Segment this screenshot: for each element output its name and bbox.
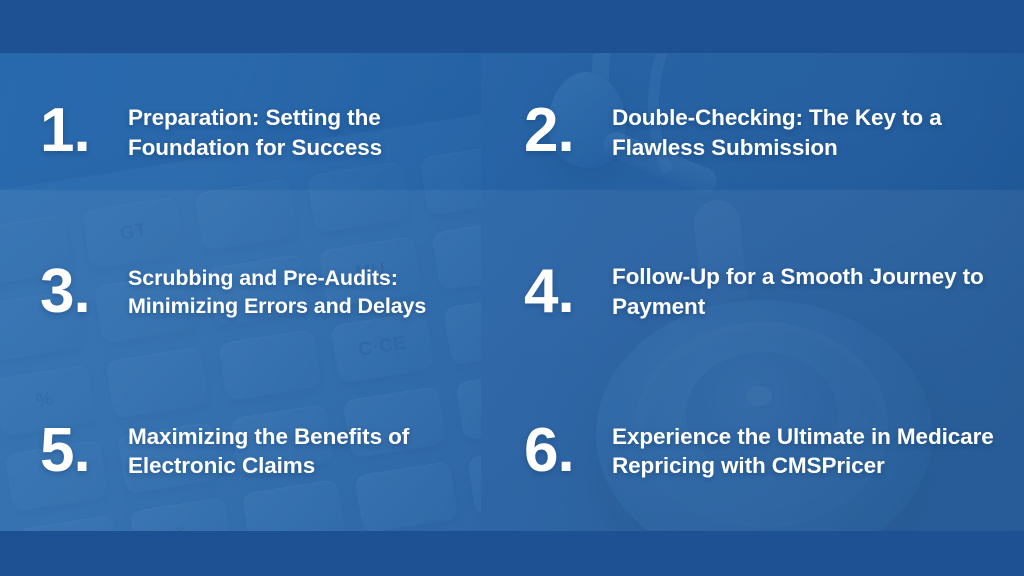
step-number-2: 2. (524, 102, 602, 160)
step-item-1: 1. Preparation: Setting the Foundation f… (0, 53, 512, 212)
bottom-bar (0, 531, 1024, 576)
step-item-2: 2. Double-Checking: The Key to a Flawles… (512, 53, 1024, 212)
step-number-5: 5. (40, 422, 118, 480)
step-item-6: 6. Experience the Ultimate in Medicare R… (512, 372, 1024, 531)
step-item-4: 4. Follow-Up for a Smooth Journey to Pay… (512, 212, 1024, 371)
step-number-6: 6. (524, 422, 602, 480)
step-title-2: Double-Checking: The Key to a Flawless S… (612, 103, 998, 162)
step-title-6: Experience the Ultimate in Medicare Repr… (612, 422, 998, 481)
top-bar (0, 0, 1024, 53)
step-item-5: 5. Maximizing the Benefits of Electronic… (0, 372, 512, 531)
step-title-5: Maximizing the Benefits of Electronic Cl… (128, 422, 486, 481)
step-number-1: 1. (40, 102, 118, 160)
step-item-3: 3. Scrubbing and Pre-Audits: Minimizing … (0, 212, 512, 371)
step-title-3: Scrubbing and Pre-Audits: Minimizing Err… (128, 264, 486, 321)
slide-canvas: GT MU % C·CE × (0, 0, 1024, 576)
step-number-4: 4. (524, 263, 602, 321)
step-number-3: 3. (40, 263, 118, 321)
step-title-4: Follow-Up for a Smooth Journey to Paymen… (612, 262, 998, 321)
step-title-1: Preparation: Setting the Foundation for … (128, 103, 486, 162)
steps-grid: 1. Preparation: Setting the Foundation f… (0, 53, 1024, 531)
